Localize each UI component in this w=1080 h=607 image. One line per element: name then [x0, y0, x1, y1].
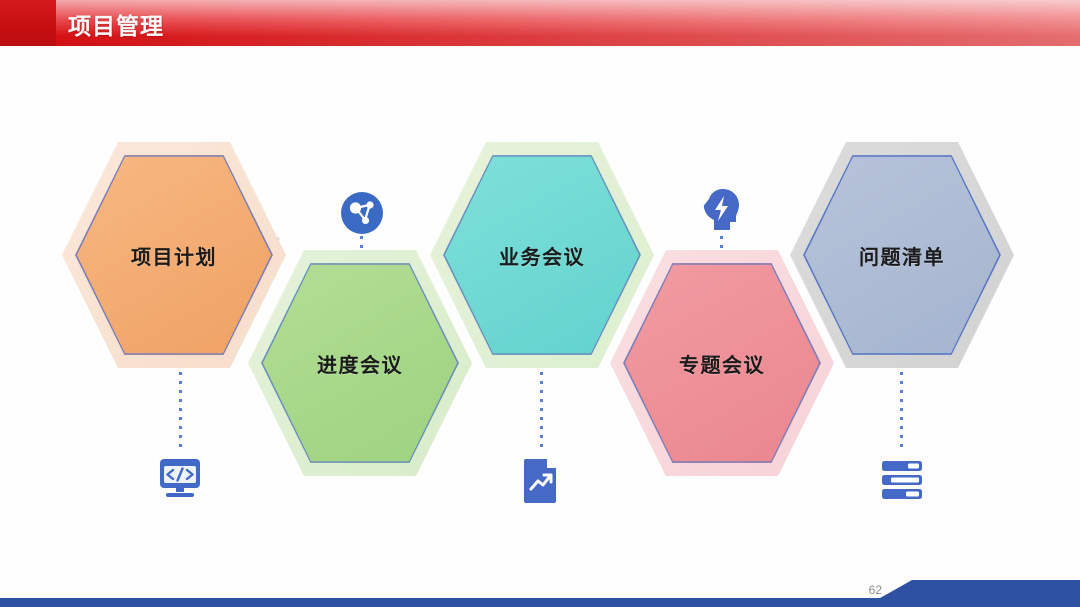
hexagon-process-diagram: 项目计划 进度会议 业务会议 专题会议: [0, 46, 1080, 561]
slide-header: 项目管理: [0, 0, 1080, 46]
hex-node-5[interactable]: 问题清单: [790, 142, 1014, 368]
footer-bar: [0, 598, 1080, 607]
dotted-connector-1: [179, 372, 182, 450]
slide-canvas: 项目管理 项目计划: [0, 0, 1080, 607]
page-title: 项目管理: [68, 7, 164, 41]
brain-idea-icon[interactable]: [699, 186, 743, 234]
code-monitor-icon[interactable]: [157, 457, 203, 501]
dotted-connector-5: [900, 372, 903, 452]
hex-label-5: 问题清单: [790, 142, 1014, 368]
footer-accent-shape: [880, 580, 1080, 598]
page-number: 62: [869, 583, 882, 597]
server-list-icon[interactable]: [879, 458, 925, 502]
header-left-block: [0, 0, 56, 46]
dotted-connector-3: [540, 372, 543, 450]
share-nodes-icon[interactable]: [340, 191, 384, 235]
trend-document-icon[interactable]: [519, 456, 563, 504]
